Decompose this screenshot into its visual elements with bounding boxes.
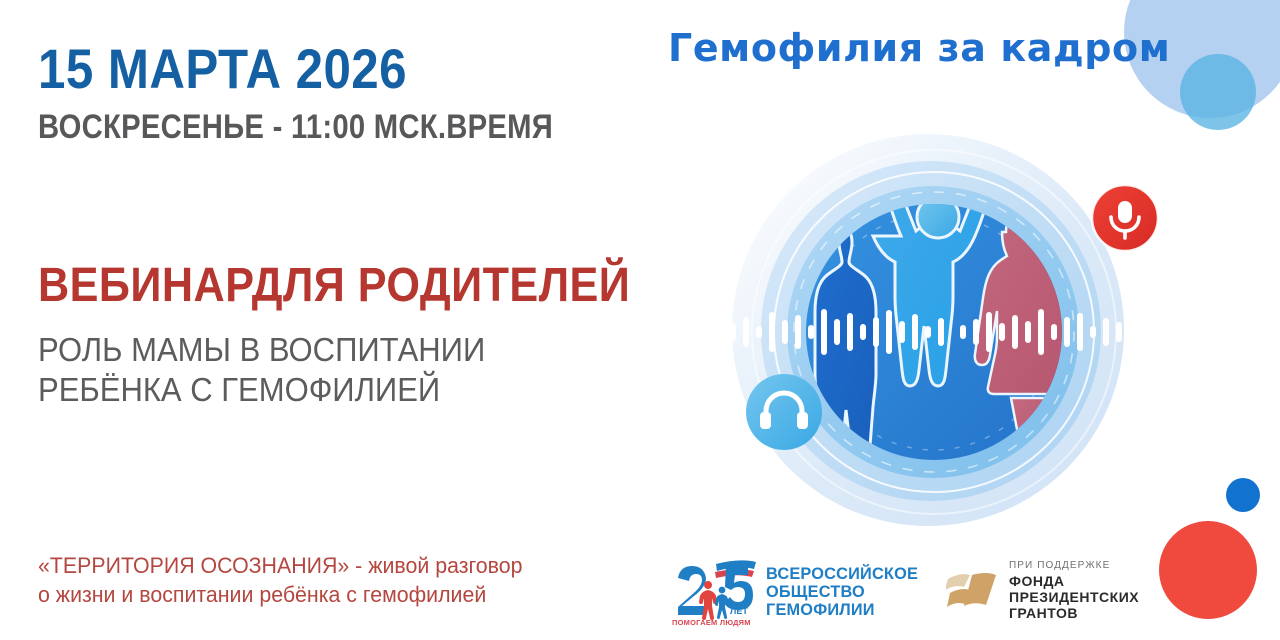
waveform-bar [912, 314, 918, 350]
waveform-bar [808, 325, 814, 339]
waveform-bar [999, 323, 1005, 341]
fpg-name: ПРИ ПОДДЕРЖКЕ ФОНДА ПРЕЗИДЕНТСКИХ ГРАНТО… [1009, 560, 1139, 621]
subheadline: РОЛЬ МАМЫ В ВОСПИТАНИИ РЕБЁНКА С ГЕМОФИЛ… [38, 330, 602, 411]
waveform-bar [782, 320, 788, 344]
waveform-bar [1038, 309, 1044, 355]
waveform-bar [795, 315, 801, 349]
waveform-bar [860, 324, 866, 340]
poster-canvas: Гемофилия за кадром 15 МАРТА 2026 ВОСКРЕ… [0, 0, 1280, 640]
waveform-bar [986, 312, 992, 352]
waveform-bar [873, 317, 879, 347]
waveform-bar [899, 321, 905, 343]
waveform-bar [1025, 321, 1031, 343]
waveform-bar [973, 319, 979, 345]
fpg-name-lines: ФОНДА ПРЕЗИДЕНТСКИХ ГРАНТОВ [1009, 574, 1139, 621]
vog-years-suffix: ЛЕТ [730, 606, 748, 616]
decorative-circle-red [1159, 521, 1257, 619]
vog-name-line-1: ВСЕРОССИЙСКОЕ [766, 565, 918, 583]
vog-anniversary-mark: ЛЕТ ПОМОГАЕМ ЛЮДЯМ [668, 556, 760, 628]
waveform-bar [1129, 314, 1135, 350]
waveform-bar [960, 325, 966, 339]
headline: ВЕБИНАРДЛЯ РОДИТЕЛЕЙ [38, 258, 630, 313]
waveform-bar [834, 319, 840, 345]
vog-name: ВСЕРОССИЙСКОЕ ОБЩЕСТВО ГЕМОФИЛИИ [766, 565, 918, 619]
subheadline-line-2: РЕБЁНКА С ГЕМОФИЛИЕЙ [38, 370, 602, 410]
waveform-bar [1142, 320, 1148, 344]
waveform-bar [1051, 324, 1057, 340]
waveform-bar [938, 318, 944, 346]
subheadline-line-1: РОЛЬ МАМЫ В ВОСПИТАНИИ [38, 330, 602, 370]
waveform-bar [847, 313, 853, 351]
waveform-bar [1012, 315, 1018, 349]
vog-slogan: ПОМОГАЕМ ЛЮДЯМ [672, 618, 751, 627]
vog-name-line-3: ГЕМОФИЛИИ [766, 601, 918, 619]
vog-name-line-2: ОБЩЕСТВО [766, 583, 918, 601]
waveform-bar [886, 310, 892, 354]
fpg-name-line-3: ГРАНТОВ [1009, 606, 1139, 622]
tagline: «ТЕРРИТОРИЯ ОСОЗНАНИЯ» - живой разговор … [38, 552, 620, 609]
tagline-line-2: о жизни и воспитании ребёнка с гемофилие… [38, 581, 620, 610]
event-weekday-time: ВОСКРЕСЕНЬЕ - 11:00 МСК.ВРЕМЯ [38, 108, 553, 147]
decorative-circle-medium-blue [1180, 54, 1256, 130]
waveform-bar [1090, 326, 1096, 338]
waveform-bar [1077, 313, 1083, 351]
logo-vog: ЛЕТ ПОМОГАЕМ ЛЮДЯМ ВСЕРОССИЙСКОЕ ОБЩЕСТВ… [668, 556, 924, 628]
event-date: 15 МАРТА 2026 [38, 36, 407, 101]
fpg-name-line-1: ФОНДА [1009, 574, 1139, 590]
microphone-badge [1092, 185, 1158, 251]
waveform-bar [1155, 311, 1161, 353]
waveform-bar [756, 326, 762, 338]
waveform-bar [1116, 322, 1122, 342]
fpg-support-label: ПРИ ПОДДЕРЖКЕ [1009, 560, 1139, 571]
fpg-flag-mark [946, 569, 1000, 613]
text-column: 15 МАРТА 2026 ВОСКРЕСЕНЬЕ - 11:00 МСК.ВР… [38, 0, 658, 640]
headphones-badge [746, 374, 822, 450]
waveform-bar [821, 309, 827, 355]
logo-presidential-grants: ПРИ ПОДДЕРЖКЕ ФОНДА ПРЕЗИДЕНТСКИХ ГРАНТО… [946, 560, 1139, 621]
waveform-bar [743, 317, 749, 347]
waveform-bar [730, 323, 736, 341]
fpg-name-line-2: ПРЕЗИДЕНТСКИХ [1009, 590, 1139, 606]
decorative-dot-blue [1226, 478, 1260, 512]
tagline-line-1: «ТЕРРИТОРИЯ ОСОЗНАНИЯ» - живой разговор [38, 552, 620, 581]
waveform-bar [1064, 317, 1070, 347]
brand-title: Гемофилия за кадром [668, 26, 1170, 70]
waveform-bar [769, 312, 775, 352]
waveform-bar [925, 326, 931, 338]
waveform-bar [1103, 318, 1109, 346]
illustration-audio-circle [688, 120, 1168, 560]
